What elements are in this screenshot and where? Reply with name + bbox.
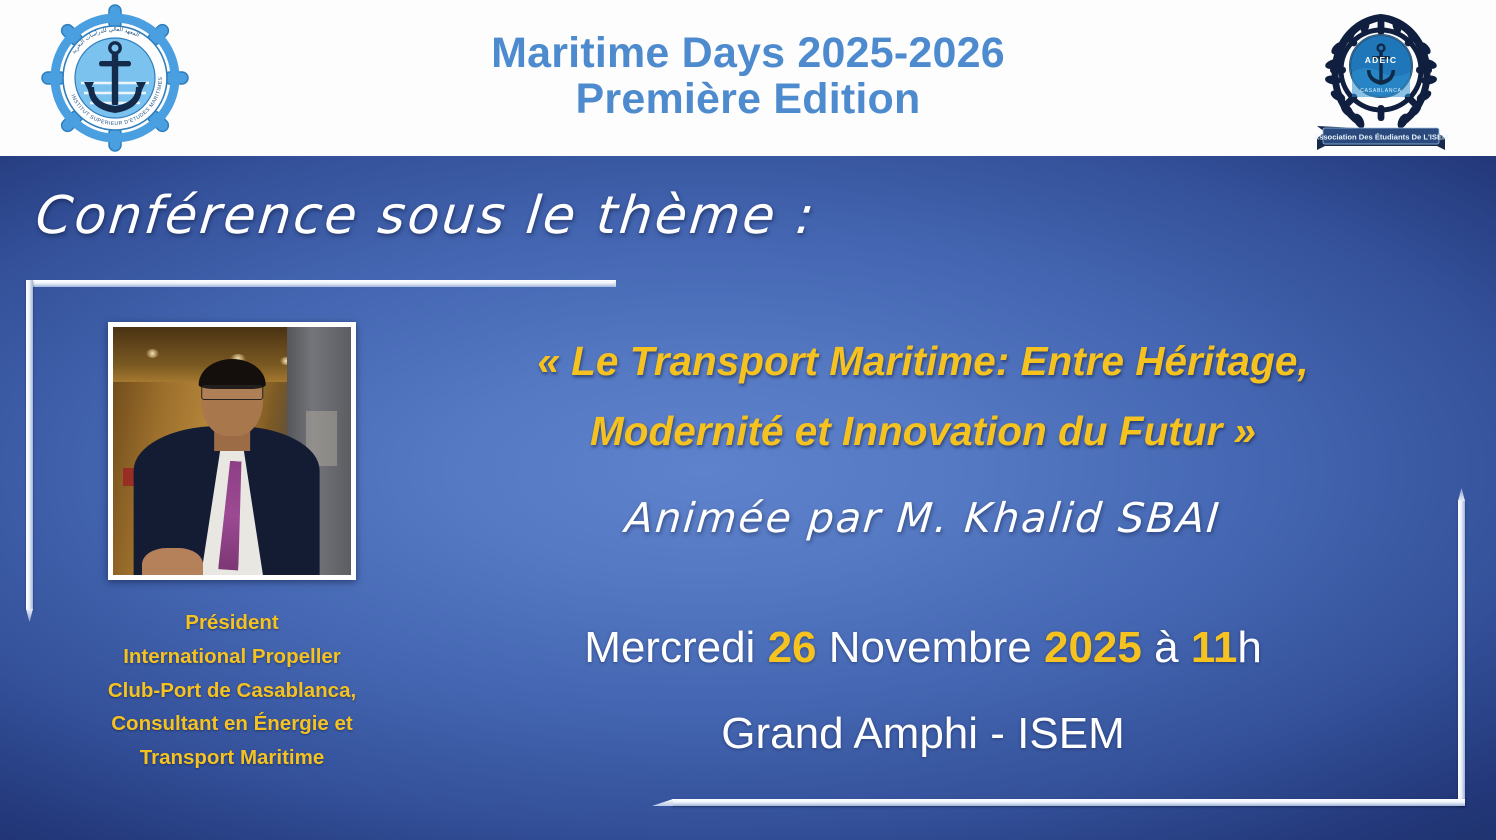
conference-speaker-line: Animée par M. Khalid SBAI <box>398 494 1448 542</box>
poster-header: INSTITUT SUPERIEUR D'ETUDES MARITIMES ال… <box>0 0 1496 156</box>
svg-text:Association Des Étudiants De L: Association Des Étudiants De L'ISEM <box>1314 133 1449 142</box>
svg-text:CASABLANCA: CASABLANCA <box>1360 88 1402 94</box>
adeic-laurel-wheel-logo: ADEIC CASABLANCA Association Des Étudian… <box>1305 2 1457 154</box>
right-logo-slot: ADEIC CASABLANCA Association Des Étudian… <box>1266 0 1496 156</box>
conference-theme: « Le Transport Maritime: Entre Héritage,… <box>400 327 1446 466</box>
speaker-caption-line: Consultant en Énergie et <box>42 707 422 741</box>
svg-text:ADEIC: ADEIC <box>1365 55 1397 65</box>
date-day: 26 <box>768 623 817 672</box>
speaker-caption-line: Président <box>42 606 422 640</box>
speaker-caption-line: International Propeller <box>42 640 422 674</box>
speaker-caption-line: Club-Port de Casablanca, <box>42 674 422 708</box>
poster-title-line-2: Première Edition <box>230 76 1266 122</box>
speaker-caption-line: Transport Maritime <box>42 741 422 775</box>
speaker-photo <box>108 322 356 580</box>
decorative-frame-right-vertical <box>1458 500 1465 806</box>
main-content-column: « Le Transport Maritime: Entre Héritage,… <box>400 156 1446 840</box>
poster-header-titles: Maritime Days 2025-2026 Première Edition <box>230 30 1266 127</box>
speaker-column: Président International Propeller Club-P… <box>42 322 422 775</box>
date-hour-suffix: h <box>1237 623 1261 672</box>
date-connector: à <box>1154 623 1178 672</box>
decorative-frame-left-vertical <box>26 280 33 610</box>
date-month: Novembre <box>829 623 1032 672</box>
banner-ribbon: Association Des Étudiants De L'ISEM <box>1314 126 1449 150</box>
speaker-caption: Président International Propeller Club-P… <box>42 606 422 775</box>
date-year: 2025 <box>1044 623 1142 672</box>
left-logo-slot: INSTITUT SUPERIEUR D'ETUDES MARITIMES ال… <box>0 0 230 156</box>
event-poster: INSTITUT SUPERIEUR D'ETUDES MARITIMES ال… <box>0 0 1496 840</box>
conference-venue: Grand Amphi - ISEM <box>400 709 1446 759</box>
poster-body: Conférence sous le thème : <box>0 156 1496 840</box>
date-hour: 11 <box>1191 623 1238 672</box>
conference-theme-line-1: « Le Transport Maritime: Entre Héritage, <box>400 327 1446 397</box>
date-prefix: Mercredi <box>584 623 755 672</box>
poster-title-line-1: Maritime Days 2025-2026 <box>230 30 1266 76</box>
conference-theme-line-2: Modernité et Innovation du Futur » <box>400 397 1446 467</box>
conference-date: Mercredi 26 Novembre 2025 à 11h <box>400 623 1446 673</box>
isem-ship-wheel-anchor-logo: INSTITUT SUPERIEUR D'ETUDES MARITIMES ال… <box>40 3 190 153</box>
